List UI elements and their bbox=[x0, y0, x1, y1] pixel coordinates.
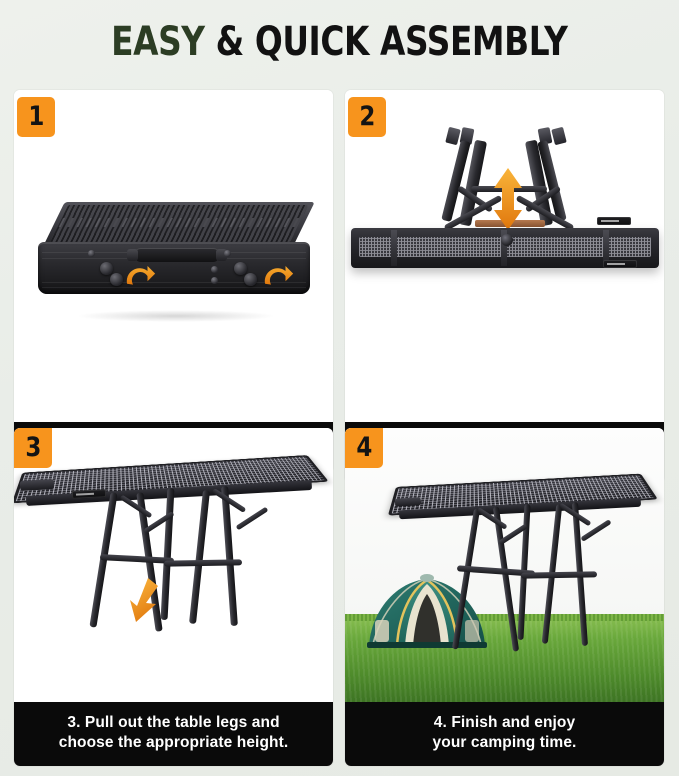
step-card-2: 2 2. Unfold the tabletop and flatten the… bbox=[345, 90, 664, 483]
center-hub-pin bbox=[501, 234, 513, 246]
rotate-arrow-left-icon bbox=[122, 260, 156, 294]
step-number-1: 1 bbox=[28, 103, 44, 130]
title-highlight: EASY bbox=[111, 19, 205, 65]
step-badge-3: 3 bbox=[14, 428, 52, 468]
side-hook-bracket bbox=[20, 479, 54, 491]
step-badge-1: 1 bbox=[17, 97, 55, 137]
step-caption-3: 3. Pull out the table legs and choose th… bbox=[14, 702, 333, 766]
step-number-4: 4 bbox=[356, 434, 372, 461]
pull-down-arrow-icon bbox=[124, 576, 164, 628]
step-3-illustration: 3 bbox=[14, 428, 333, 702]
side-hook-right-a bbox=[234, 262, 247, 275]
side-hook-bracket bbox=[395, 497, 421, 506]
step-number-2: 2 bbox=[359, 103, 375, 130]
brand-logo-icon bbox=[603, 260, 637, 268]
title-rest: & QUICK ASSEMBLY bbox=[216, 19, 568, 65]
infographic-page: EASY & QUICK ASSEMBLY bbox=[0, 0, 679, 776]
caption-line: 4. Finish and enjoy bbox=[353, 713, 656, 733]
step-2-illustration: 2 bbox=[345, 90, 664, 422]
side-hook-left-a bbox=[100, 262, 113, 275]
brand-logo-icon bbox=[597, 217, 631, 225]
step-number-3: 3 bbox=[25, 434, 41, 461]
step-card-4: 4 4. Finish and enjoy your camping time. bbox=[345, 428, 664, 766]
steps-grid: 1 1. Unlock both side hooks. bbox=[14, 90, 665, 764]
side-hook-right-b bbox=[244, 273, 257, 286]
step-card-1: 1 1. Unlock both side hooks. bbox=[14, 90, 333, 473]
unfolding-table-graphic bbox=[351, 124, 659, 304]
leg-front-right bbox=[189, 490, 210, 624]
caption-line: 3. Pull out the table legs and bbox=[22, 713, 325, 733]
caption-line: your camping time. bbox=[353, 733, 656, 753]
step-1-illustration: 1 bbox=[14, 90, 333, 422]
push-up-arrow-icon bbox=[492, 166, 524, 232]
table-mesh-top bbox=[43, 202, 314, 246]
step-caption-4: 4. Finish and enjoy your camping time. bbox=[345, 702, 664, 766]
folded-table-graphic bbox=[36, 202, 312, 312]
step-4-illustration: 4 bbox=[345, 428, 664, 702]
step-badge-4: 4 bbox=[345, 428, 383, 468]
page-title: EASY & QUICK ASSEMBLY bbox=[0, 22, 679, 62]
rotate-arrow-right-icon bbox=[260, 260, 294, 294]
table-folded-body bbox=[38, 242, 310, 294]
step-card-3: 3 3. Pull out the table legs and choose … bbox=[14, 428, 333, 766]
step-badge-2: 2 bbox=[348, 97, 386, 137]
caption-line: choose the appropriate height. bbox=[22, 733, 325, 753]
camping-tent bbox=[361, 568, 493, 654]
